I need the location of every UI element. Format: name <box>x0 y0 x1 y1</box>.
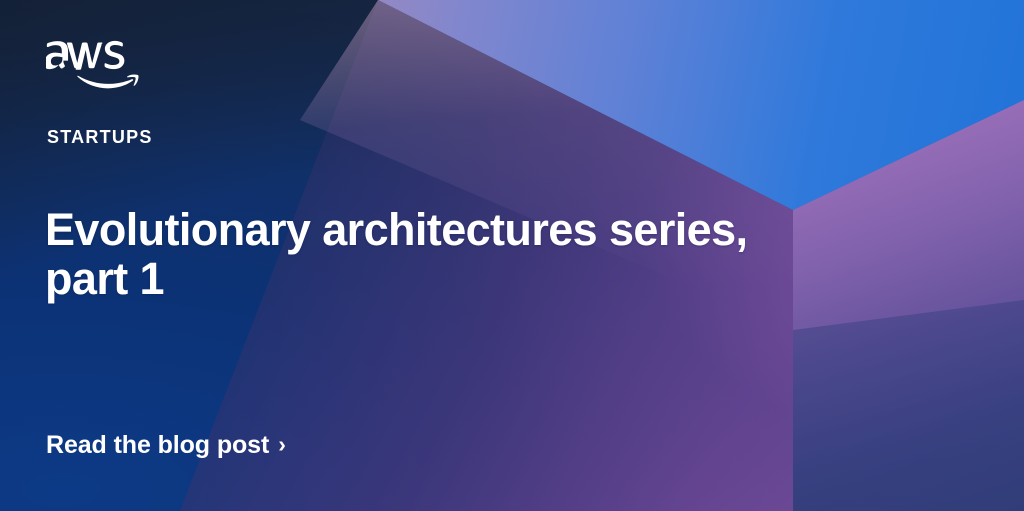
banner-content: STARTUPS Evolutionary architectures seri… <box>0 0 1024 511</box>
page-title: Evolutionary architectures series, part … <box>45 206 805 303</box>
cta-label: Read the blog post <box>46 430 269 460</box>
aws-logo-icon <box>46 38 142 92</box>
program-label: STARTUPS <box>47 128 153 146</box>
chevron-right-icon: › <box>278 433 286 456</box>
read-blog-post-link[interactable]: Read the blog post › <box>46 430 286 460</box>
aws-startups-promo-banner: STARTUPS Evolutionary architectures seri… <box>0 0 1024 511</box>
